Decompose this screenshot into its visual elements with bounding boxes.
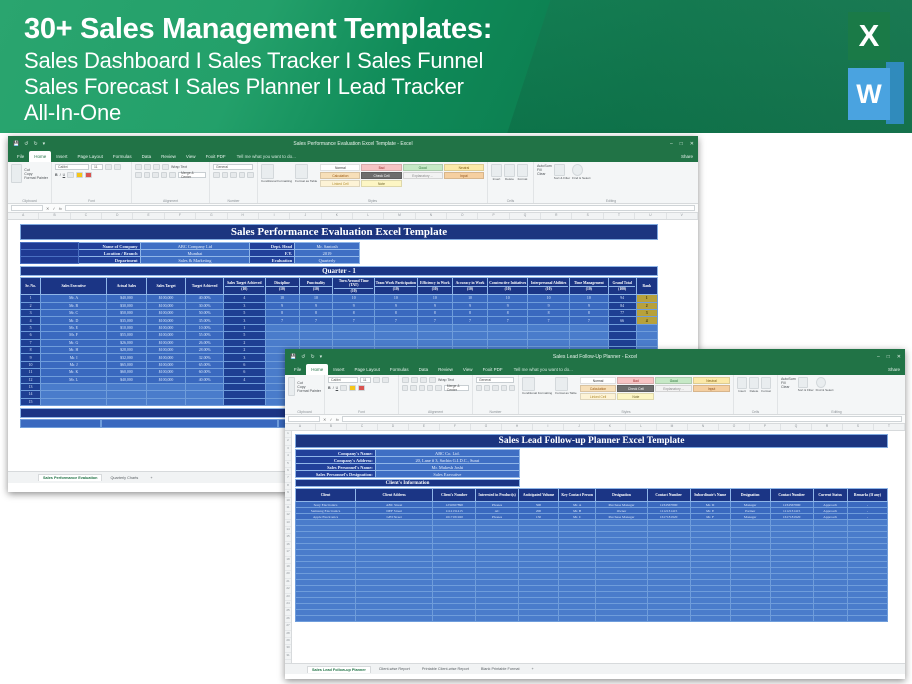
column-header-cell[interactable]: Accuracy in Work(10) [452, 278, 487, 295]
ribbon-group-editing[interactable]: AutoSum Fill Clear Sort & Filter Find & … [778, 375, 905, 414]
align-left-icon[interactable] [402, 385, 408, 391]
cell-acc[interactable]: 7 [452, 317, 487, 324]
column-header[interactable]: A [285, 424, 316, 430]
cell-empty[interactable] [690, 616, 730, 622]
cell-pct[interactable]: 35.00% [186, 317, 224, 324]
column-header-cell[interactable]: Designation [730, 489, 770, 502]
cell-styles-gallery[interactable]: NormalBadGoodNeutralCalculationCheck Cel… [580, 377, 730, 414]
cell-inter[interactable]: 7 [528, 317, 570, 324]
increase-indent-icon[interactable] [435, 385, 441, 391]
cell-exec[interactable]: Mr. D [41, 317, 107, 324]
font-color-icon[interactable] [358, 385, 365, 391]
q2-cell[interactable] [20, 419, 101, 428]
info-value-company-name[interactable]: ABC Co. Ltd. [375, 450, 519, 457]
column-header[interactable]: H [502, 424, 533, 430]
cell-rank[interactable]: 3 [636, 310, 658, 317]
underline-icon[interactable]: U [336, 386, 339, 390]
conditional-formatting-icon[interactable] [261, 164, 274, 179]
insert-cells-icon[interactable] [737, 377, 747, 389]
row-header[interactable]: 12 [285, 512, 291, 519]
row-header[interactable]: 23 [285, 594, 291, 601]
cell-empty[interactable] [374, 324, 417, 331]
close-icon[interactable]: ✕ [690, 141, 694, 147]
window2-sheet-tab-bar[interactable]: Sales Lead Follow-up Planner Client-wise… [285, 663, 905, 674]
borders-icon[interactable] [67, 172, 74, 178]
decrease-decimal-icon[interactable] [247, 172, 254, 178]
cell-target[interactable]: $100,000 [146, 295, 186, 302]
cell-style-swatch[interactable]: Bad [617, 377, 654, 384]
row-header[interactable]: 28 [285, 631, 291, 638]
cell-acc[interactable]: 10 [452, 295, 487, 302]
insert-cells-icon[interactable] [491, 164, 502, 177]
cell-eff[interactable]: 9 [417, 302, 452, 309]
column-header[interactable]: P [750, 424, 781, 430]
percent-icon[interactable] [484, 385, 490, 391]
column-header[interactable]: R [812, 424, 843, 430]
column-header[interactable]: M [657, 424, 688, 430]
cell-pct[interactable]: 30.00% [186, 302, 224, 309]
cell-exec[interactable]: Mr. H [41, 346, 107, 353]
cell-empty[interactable] [528, 332, 570, 339]
column-header-cell[interactable]: Punctuality(10) [299, 278, 333, 295]
row-header[interactable]: 13 [285, 520, 291, 527]
cell-inter[interactable]: 10 [528, 295, 570, 302]
cell-style-swatch[interactable]: Linked Cell [320, 180, 360, 187]
format-cells-icon[interactable] [761, 377, 771, 389]
cell-empty[interactable] [647, 616, 690, 622]
window2-controls[interactable]: – □ ✕ [877, 354, 901, 360]
column-header[interactable]: F [440, 424, 471, 430]
window2-sheet-area[interactable]: 1234567891011121314151617181920212223242… [285, 431, 905, 663]
cell-time[interactable]: 9 [569, 302, 608, 309]
cell-target[interactable]: $100,000 [146, 376, 186, 383]
conditional-formatting-icon[interactable] [522, 377, 535, 391]
row-header[interactable]: 5 [285, 461, 291, 468]
cell-target[interactable]: $100,000 [146, 302, 186, 309]
cell-empty[interactable] [569, 332, 608, 339]
restore-icon[interactable]: □ [680, 141, 683, 147]
cell-empty[interactable] [813, 616, 847, 622]
sort-filter-icon[interactable] [554, 164, 565, 176]
cell-target[interactable]: $100,000 [146, 324, 186, 331]
column-header-cell[interactable]: Key Contact Person [559, 489, 596, 502]
info-value-personnel-name[interactable]: Mr. Mukesh Joshi [375, 464, 519, 471]
cell-style-swatch[interactable]: Normal [580, 377, 617, 384]
align-middle-icon[interactable] [144, 164, 151, 170]
q2-cell[interactable] [101, 419, 277, 428]
window2-row-headers[interactable]: 1234567891011121314151617181920212223242… [285, 431, 292, 663]
cell-eff[interactable]: 10 [417, 295, 452, 302]
ribbon-tab-foxit-pdf[interactable]: Foxit PDF [201, 151, 231, 162]
row-header[interactable]: 8 [285, 483, 291, 490]
cell-empty[interactable] [265, 324, 299, 331]
ribbon-tab-formulas[interactable]: Formulas [108, 151, 137, 162]
find-select-icon[interactable] [572, 164, 583, 176]
share-button[interactable]: Share [888, 365, 900, 375]
column-header[interactable]: O [447, 213, 478, 219]
table-row[interactable]: 4Mr. D$35,000$100,00035.00%3777777777664 [21, 317, 658, 324]
column-header[interactable]: O [719, 424, 750, 430]
increase-decimal-icon[interactable] [239, 172, 246, 178]
column-header[interactable]: B [316, 424, 347, 430]
cell-rank[interactable]: 1 [636, 295, 658, 302]
align-center-icon[interactable] [144, 172, 151, 178]
cell-empty[interactable] [107, 398, 147, 405]
ribbon-tab-data[interactable]: Data [137, 151, 157, 162]
cell-empty[interactable] [186, 398, 224, 405]
cell-pct[interactable]: 32.00% [186, 354, 224, 361]
align-bottom-icon[interactable] [420, 377, 427, 383]
cell-empty[interactable] [265, 332, 299, 339]
align-top-icon[interactable] [135, 164, 142, 170]
tell-me-search[interactable]: Tell me what you want to do... [508, 365, 573, 375]
format-as-table-icon[interactable] [555, 377, 568, 391]
cell-style-swatch[interactable]: Explanatory ... [655, 385, 692, 392]
cell-target[interactable]: $100,000 [146, 361, 186, 368]
cell-time[interactable]: 7 [569, 317, 608, 324]
cell-cons[interactable]: 10 [488, 295, 528, 302]
ribbon-group-clipboard[interactable]: Cut Copy Format Painter Clipboard [8, 162, 52, 203]
cell-exec[interactable]: Mr. F [41, 332, 107, 339]
cell-punc[interactable]: 8 [299, 310, 333, 317]
fill-color-icon[interactable] [76, 172, 83, 178]
ribbon-tab-insert[interactable]: Insert [51, 151, 72, 162]
cell-pct[interactable]: 55.00% [186, 332, 224, 339]
cell-pct[interactable]: 65.00% [186, 361, 224, 368]
cell-pct[interactable]: 26.00% [186, 339, 224, 346]
cell-total[interactable] [608, 324, 636, 331]
name-box[interactable] [288, 416, 320, 422]
row-header[interactable]: 3 [285, 446, 291, 453]
column-header[interactable]: T [874, 424, 905, 430]
align-middle-icon[interactable] [411, 377, 418, 383]
column-header[interactable]: A [8, 213, 39, 219]
formula-input[interactable] [65, 205, 695, 211]
minimize-icon[interactable]: – [877, 354, 880, 360]
ribbon-tab-page-layout[interactable]: Page Layout [350, 364, 385, 375]
table-row[interactable]: 2Mr. B$30,000$100,00030.00%3999999999842 [21, 302, 658, 309]
insert-function-icon[interactable]: fx [59, 206, 62, 211]
wrap-text-button[interactable]: Wrap Text [171, 165, 187, 169]
italic-icon[interactable]: I [60, 173, 61, 177]
table-row[interactable]: 5Mr. E$10,000$100,00010.00%1 [21, 324, 658, 331]
ribbon-tab-home[interactable]: Home [29, 151, 51, 162]
merge-center-button[interactable]: Merge & Center [444, 385, 469, 391]
cell-empty[interactable] [186, 383, 224, 390]
column-header-cell[interactable]: Remarks (If any) [847, 489, 887, 502]
info-value-dept-head[interactable]: Mr. Santosh [295, 243, 360, 250]
column-header-cell[interactable]: Designation [596, 489, 647, 502]
cell-target[interactable]: $100,000 [146, 317, 186, 324]
row-header[interactable]: 26 [285, 616, 291, 623]
cell-rank[interactable]: 4 [636, 317, 658, 324]
column-header[interactable]: K [595, 424, 626, 430]
cell-style-swatch[interactable]: Neutral [444, 164, 484, 171]
insert-function-icon[interactable]: fx [336, 417, 339, 422]
cell-empty[interactable] [596, 616, 647, 622]
cell-sta[interactable]: 5 [224, 332, 266, 339]
cell-time[interactable]: 10 [569, 295, 608, 302]
cell-empty[interactable] [41, 383, 107, 390]
ribbon-tab-data[interactable]: Data [414, 364, 434, 375]
column-header[interactable]: S [843, 424, 874, 430]
cell-empty[interactable] [374, 332, 417, 339]
cell-empty[interactable] [847, 616, 887, 622]
format-as-table-icon[interactable] [295, 164, 308, 179]
cell-total[interactable]: 84 [608, 302, 636, 309]
row-header[interactable]: 7 [285, 475, 291, 482]
cell-empty[interactable] [636, 339, 658, 346]
cell-actual[interactable]: $40,000 [107, 295, 147, 302]
cell-inter[interactable]: 9 [528, 302, 570, 309]
number-format-select[interactable]: General [213, 164, 253, 170]
paste-icon[interactable] [11, 164, 22, 183]
cell-empty[interactable] [146, 383, 186, 390]
decrease-decimal-icon[interactable] [509, 385, 515, 391]
cell-sta[interactable] [224, 391, 266, 398]
cell-pct[interactable]: 60.00% [186, 369, 224, 376]
bold-icon[interactable]: B [328, 386, 331, 390]
ribbon-tab-review[interactable]: Review [433, 364, 458, 375]
orientation-icon[interactable] [162, 164, 169, 170]
cell-eff[interactable]: 7 [417, 317, 452, 324]
ribbon-tab-insert[interactable]: Insert [328, 364, 349, 375]
row-header[interactable]: 2 [285, 438, 291, 445]
sheet-tab-client-wise-report[interactable]: Client-wise Report [375, 666, 414, 672]
column-header[interactable]: V [667, 213, 698, 219]
delete-cells-icon[interactable] [504, 164, 515, 177]
cell-sta[interactable] [224, 398, 266, 405]
cell-sr-no[interactable]: 10 [21, 361, 41, 368]
cell-empty[interactable] [730, 616, 770, 622]
ribbon-group-cells[interactable]: Insert Delete Format Cells [488, 162, 534, 203]
row-header[interactable]: 18 [285, 557, 291, 564]
close-icon[interactable]: ✕ [897, 354, 901, 360]
clear-button[interactable]: Clear [537, 172, 552, 176]
cell-sr-no[interactable]: 4 [21, 317, 41, 324]
cell-sr-no[interactable]: 12 [21, 376, 41, 383]
column-header-cell[interactable]: Contact Number [770, 489, 813, 502]
column-header[interactable]: F [165, 213, 196, 219]
cell-sr-no[interactable]: 3 [21, 310, 41, 317]
ribbon-group-font[interactable]: Calibri 11 B I U Font [325, 375, 399, 414]
cell-actual[interactable]: $32,000 [107, 354, 147, 361]
cell-sta[interactable]: 1 [224, 324, 266, 331]
column-header-cell[interactable]: Subordinate's Name [690, 489, 730, 502]
cell-empty[interactable] [452, 332, 487, 339]
row-header[interactable]: 29 [285, 638, 291, 645]
cell-target[interactable]: $100,000 [146, 339, 186, 346]
column-header[interactable]: U [635, 213, 666, 219]
align-bottom-icon[interactable] [153, 164, 160, 170]
cell-empty[interactable] [146, 391, 186, 398]
cell-empty[interactable] [569, 324, 608, 331]
cell-sta[interactable]: 3 [224, 354, 266, 361]
row-header[interactable]: 14 [285, 527, 291, 534]
restore-icon[interactable]: □ [887, 354, 890, 360]
cell-target[interactable]: $100,000 [146, 310, 186, 317]
comma-icon[interactable] [492, 385, 498, 391]
cell-empty[interactable] [299, 324, 333, 331]
cell-pct[interactable]: 40.00% [186, 376, 224, 383]
cell-punc[interactable]: 7 [299, 317, 333, 324]
cell-actual[interactable]: $55,000 [107, 332, 147, 339]
column-header[interactable]: Q [781, 424, 812, 430]
info-value-fy[interactable]: 2019 [295, 250, 360, 257]
cell-empty[interactable] [146, 398, 186, 405]
ribbon-tab-formulas[interactable]: Formulas [385, 364, 414, 375]
minimize-icon[interactable]: – [670, 141, 673, 147]
column-header-cell[interactable]: Discipline(10) [265, 278, 299, 295]
cell-empty[interactable] [476, 616, 519, 622]
row-header[interactable]: 25 [285, 608, 291, 615]
column-header-cell[interactable]: Current Status [813, 489, 847, 502]
column-header[interactable]: B [39, 213, 70, 219]
cell-actual[interactable]: $40,000 [107, 376, 147, 383]
cell-acc[interactable]: 9 [452, 302, 487, 309]
info-value-department[interactable]: Sales & Marketing [140, 257, 250, 264]
window1-formula-bar[interactable]: ✕ ✓ fx [8, 204, 698, 213]
align-right-icon[interactable] [419, 385, 425, 391]
ribbon-tab-review[interactable]: Review [156, 151, 181, 162]
cell-exec[interactable]: Mr. B [41, 302, 107, 309]
number-format-select[interactable]: General [476, 377, 514, 383]
underline-icon[interactable]: U [63, 173, 66, 177]
cell-sr-no[interactable]: 14 [21, 391, 41, 398]
window1-ribbon[interactable]: Cut Copy Format Painter Clipboard Calibr… [8, 162, 698, 204]
column-header[interactable]: L [626, 424, 657, 430]
cell-style-swatch[interactable]: Explanatory ... [403, 172, 443, 179]
column-header-cell[interactable]: Actual Sales [107, 278, 147, 295]
percent-icon[interactable] [222, 172, 229, 178]
cell-pct[interactable]: 10.00% [186, 324, 224, 331]
column-header-cell[interactable]: Turn Around Time (TAT)(10) [333, 278, 375, 295]
column-header-cell[interactable]: Client Address [356, 489, 433, 502]
fill-color-icon[interactable] [349, 385, 356, 391]
cell-style-swatch[interactable]: Neutral [693, 377, 730, 384]
row-header[interactable]: 31 [285, 653, 291, 660]
font-size-select[interactable]: 11 [360, 377, 371, 383]
cell-actual[interactable]: $60,000 [107, 369, 147, 376]
column-header-cell[interactable]: Target Achieved [186, 278, 224, 295]
cell-actual[interactable]: $35,000 [107, 317, 147, 324]
column-header[interactable]: N [688, 424, 719, 430]
ribbon-tab-page-layout[interactable]: Page Layout [73, 151, 108, 162]
cell-sr-no[interactable]: 1 [21, 295, 41, 302]
column-header[interactable]: T [604, 213, 635, 219]
ribbon-group-clipboard[interactable]: Cut Copy Format Painter Clipboard [285, 375, 325, 414]
ribbon-tab-file[interactable]: File [289, 364, 306, 375]
cell-empty[interactable] [488, 339, 528, 346]
cell-empty[interactable] [299, 339, 333, 346]
column-header[interactable]: M [384, 213, 415, 219]
confirm-edit-icon[interactable]: ✓ [52, 206, 55, 211]
column-header-cell[interactable]: Time Management(10) [569, 278, 608, 295]
column-header[interactable]: N [416, 213, 447, 219]
merge-center-button[interactable]: Merge & Center [178, 172, 206, 178]
cell-style-swatch[interactable]: Normal [320, 164, 360, 171]
column-header[interactable]: Q [510, 213, 541, 219]
info-value-personnel-designation[interactable]: Sales Executive [375, 471, 519, 478]
cell-inter[interactable]: 8 [528, 310, 570, 317]
cell-acc[interactable]: 8 [452, 310, 487, 317]
column-header[interactable]: J [564, 424, 595, 430]
column-header[interactable]: H [228, 213, 259, 219]
cell-empty[interactable] [374, 339, 417, 346]
column-header-cell[interactable]: Constructive Initiatives(10) [488, 278, 528, 295]
cell-team[interactable]: 9 [374, 302, 417, 309]
window2-ribbon-tabs[interactable]: File Home Insert Page Layout Formulas Da… [285, 364, 905, 375]
row-header[interactable]: 6 [285, 468, 291, 475]
cell-tat[interactable]: 8 [333, 310, 375, 317]
cell-sta[interactable]: 2 [224, 339, 266, 346]
cell-empty[interactable] [296, 616, 356, 622]
excel-window-sales-lead-planner[interactable]: 💾 ↺ ↻ ▾ Sales Lead Follow-Up Planner - E… [285, 349, 905, 679]
cancel-edit-icon[interactable]: ✕ [46, 206, 49, 211]
bold-icon[interactable]: B [55, 173, 58, 177]
cell-empty[interactable] [488, 324, 528, 331]
row-header[interactable]: 10 [285, 498, 291, 505]
cell-disc[interactable]: 9 [265, 302, 299, 309]
cell-empty[interactable] [452, 324, 487, 331]
table-row-empty[interactable] [296, 616, 888, 622]
row-header[interactable]: 17 [285, 549, 291, 556]
format-painter-item[interactable]: Format Painter [297, 389, 321, 393]
cell-empty[interactable] [333, 324, 375, 331]
row-header[interactable]: 16 [285, 542, 291, 549]
cell-style-swatch[interactable]: Good [655, 377, 692, 384]
cell-sta[interactable] [224, 383, 266, 390]
table-row[interactable]: 6Mr. F$55,000$100,00055.00%5 [21, 332, 658, 339]
cell-exec[interactable]: Mr. I [41, 354, 107, 361]
increase-decimal-icon[interactable] [501, 385, 507, 391]
column-header-cell[interactable]: Sales Target [146, 278, 186, 295]
row-header[interactable]: 15 [285, 534, 291, 541]
decrease-indent-icon[interactable] [161, 172, 168, 178]
format-painter-item[interactable]: Format Painter [24, 176, 48, 180]
cell-empty[interactable] [333, 332, 375, 339]
cell-total[interactable]: 66 [608, 317, 636, 324]
cell-empty[interactable] [265, 339, 299, 346]
cell-style-swatch[interactable]: Calculation [580, 385, 617, 392]
column-header[interactable]: E [133, 213, 164, 219]
cell-sta[interactable]: 4 [224, 295, 266, 302]
ribbon-group-number[interactable]: General Number [210, 162, 258, 203]
row-header[interactable]: 20 [285, 571, 291, 578]
cell-cons[interactable]: 7 [488, 317, 528, 324]
cell-tat[interactable]: 9 [333, 302, 375, 309]
cell-exec[interactable]: Mr. G [41, 339, 107, 346]
cell-sr-no[interactable]: 11 [21, 369, 41, 376]
row-header[interactable]: 30 [285, 645, 291, 652]
ribbon-group-alignment[interactable]: Wrap Text Merge & Center Alignment [399, 375, 473, 414]
cell-sta[interactable]: 3 [224, 317, 266, 324]
cell-sr-no[interactable]: 8 [21, 346, 41, 353]
decrease-indent-icon[interactable] [427, 385, 433, 391]
cell-target[interactable]: $100,000 [146, 346, 186, 353]
cell-sta[interactable]: 5 [224, 310, 266, 317]
increase-indent-icon[interactable] [169, 172, 176, 178]
ribbon-tab-foxit-pdf[interactable]: Foxit PDF [478, 364, 508, 375]
ribbon-group-number[interactable]: General Number [473, 375, 519, 414]
decrease-font-icon[interactable] [382, 377, 389, 383]
cell-style-swatch[interactable]: Check Cell [617, 385, 654, 392]
cell-empty[interactable] [417, 332, 452, 339]
ribbon-group-font[interactable]: Calibri 11 B I U Font [52, 162, 132, 203]
column-header-cell[interactable]: Contact Number [647, 489, 690, 502]
cancel-edit-icon[interactable]: ✕ [323, 417, 326, 422]
cell-sr-no[interactable]: 2 [21, 302, 41, 309]
